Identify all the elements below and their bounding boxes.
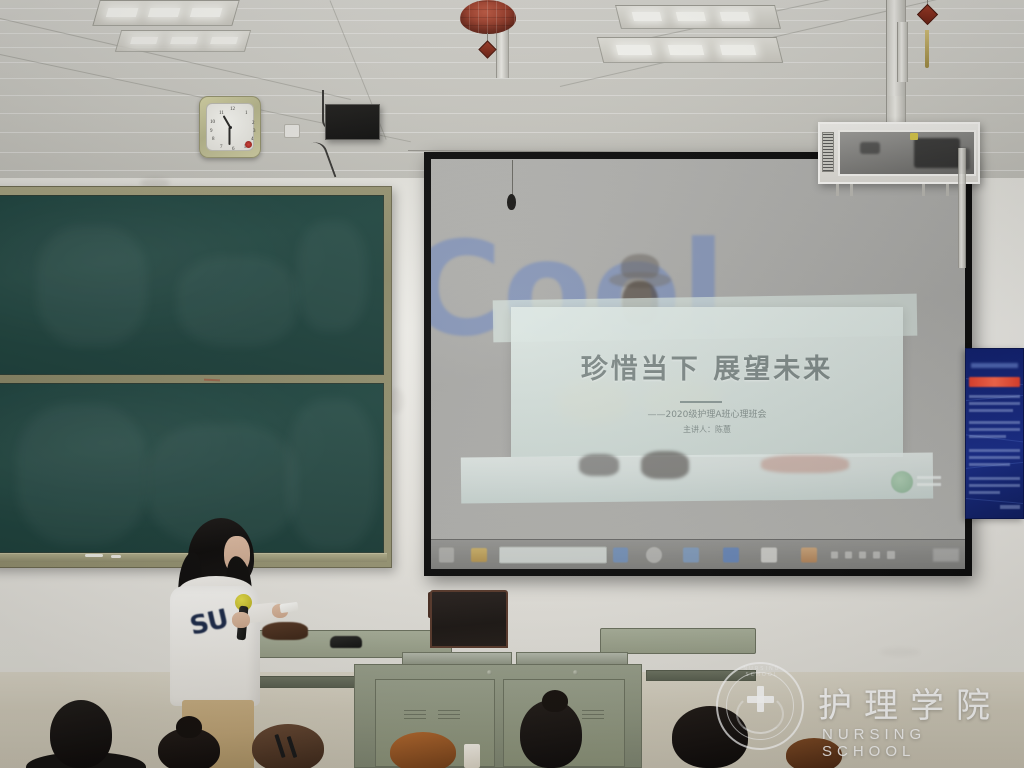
- podium-top-screw: [487, 670, 492, 675]
- slide-title: 珍惜当下 展望未来: [511, 347, 903, 386]
- student-head-1: [50, 700, 112, 768]
- leather-bag-on-desk: [262, 622, 308, 640]
- chalkboard-panel-top: [0, 195, 384, 375]
- slide-corner-badge-text-2: [917, 483, 941, 486]
- poster-header-text: [971, 363, 1019, 368]
- student-hair-bun-2: [542, 690, 568, 712]
- ceiling-light-left: [92, 0, 239, 26]
- slide-corner-badge-text: [917, 476, 941, 479]
- cortana-icon[interactable]: [613, 547, 628, 562]
- remote-control-on-desk: [330, 636, 362, 648]
- podium-top-screw-2: [573, 670, 578, 675]
- ime-icon[interactable]: [873, 551, 880, 558]
- battery-icon[interactable]: [859, 551, 866, 558]
- projection-screen: Cool 珍惜当下 展望未来 ——2020级护理A班心理班会 主讲人：陈蕙: [424, 152, 972, 576]
- slide-presenter-line: 主讲人：陈蕙: [511, 424, 903, 435]
- student-phone: [464, 744, 480, 768]
- wall-poster: [965, 348, 1024, 519]
- projector-vent: [822, 132, 834, 172]
- slide-foreground-object: [579, 454, 619, 476]
- slide-subtitle: ——2020级护理A班心理班会: [511, 407, 903, 420]
- projector-status-light: [910, 133, 918, 140]
- notification-icon[interactable]: [887, 551, 895, 559]
- student-hair-bun: [176, 716, 202, 738]
- slide-corner-badge: [891, 471, 913, 493]
- student-head-6: [672, 706, 748, 768]
- taskbar-search-box[interactable]: [499, 546, 607, 563]
- slide-foreground-desk: [461, 453, 933, 504]
- slide-foreground-object-3: [761, 455, 849, 473]
- volume-icon[interactable]: [845, 551, 852, 558]
- slide-foreground-object-2: [641, 451, 689, 479]
- red-paper-lantern: [460, 0, 516, 34]
- edge-browser-icon[interactable]: [646, 547, 662, 563]
- slide-card: 珍惜当下 展望未来 ——2020级护理A班心理班会 主讲人：陈蕙: [511, 307, 903, 457]
- clock-minute-hand: [229, 127, 231, 145]
- network-icon[interactable]: [831, 551, 838, 558]
- task-view-icon[interactable]: [683, 547, 699, 562]
- screen-pull-cord-weight: [507, 194, 516, 210]
- presenter-left-hand: [232, 612, 250, 628]
- windows-start-icon[interactable]: [439, 547, 454, 562]
- wps-icon[interactable]: [761, 547, 777, 562]
- student-head-3: [252, 724, 324, 768]
- chalk-piece: [85, 554, 103, 557]
- file-explorer-icon[interactable]: [471, 548, 487, 562]
- slide-figure-hat: [621, 254, 659, 278]
- wall-speaker: [325, 104, 380, 140]
- poster-headline: [969, 377, 1020, 387]
- clock-alarm-indicator: [245, 141, 252, 148]
- projector-drop-pole: [958, 148, 966, 268]
- slide-divider: [680, 401, 722, 403]
- taskbar-clock[interactable]: [933, 548, 959, 561]
- projection-screen-surface: Cool 珍惜当下 展望未来 ——2020级护理A班心理班会 主讲人：陈蕙: [431, 159, 965, 569]
- ceiling-projector: [818, 122, 980, 184]
- chalkboard-panel-bottom: [0, 383, 384, 553]
- wall-clock: 12 1 2 3 4 5 6 7 8 9 10 11: [199, 96, 261, 158]
- ceiling-support-pole-2: [897, 22, 908, 82]
- chalk-piece: [111, 555, 121, 558]
- projector-housing-window: [838, 130, 976, 176]
- office-chair: [430, 590, 508, 648]
- ceiling-light-right-2: [597, 37, 783, 63]
- presenter-hoodie-logo: SU: [187, 604, 231, 642]
- word-icon[interactable]: [723, 547, 739, 562]
- podium-right-wing: [600, 628, 756, 654]
- chalkboard: [0, 186, 392, 568]
- media-player-icon[interactable]: [801, 547, 817, 562]
- ornament-tassel: [925, 30, 929, 68]
- classroom-photo: 12 1 2 3 4 5 6 7 8 9 10 11: [0, 0, 1024, 768]
- student-head-7: [786, 738, 842, 768]
- ceiling-light-right: [615, 5, 781, 29]
- wall-outlet: [284, 124, 300, 138]
- windows-taskbar[interactable]: [431, 539, 965, 569]
- ceiling-light-left-2: [115, 30, 251, 52]
- student-head-4: [390, 732, 456, 768]
- podium-right-slot: [646, 670, 756, 681]
